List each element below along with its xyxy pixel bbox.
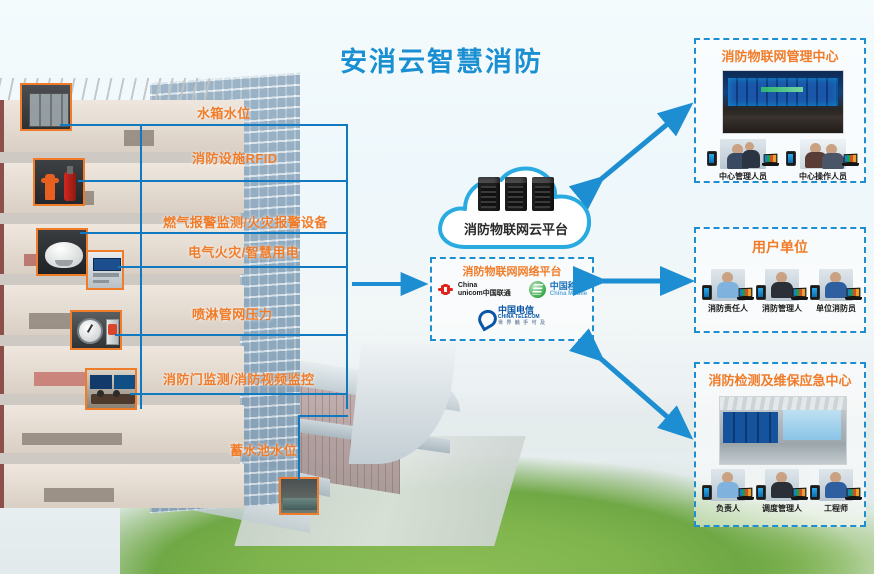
- person-engineer: 工程师: [809, 469, 863, 514]
- laptop-icon: [737, 488, 754, 500]
- video-wall: [723, 412, 778, 443]
- control-room-scene: [723, 71, 843, 133]
- bracket-line-6: [140, 393, 348, 395]
- diagram-canvas: 水箱水位 消防设施RFID 燃气报警监测/火灾报警设备 电气火灾/智慧用电 喷淋…: [0, 0, 874, 574]
- leader-line-pool-horizontal: [298, 415, 348, 417]
- person-unit-firefighter: 单位消防员: [809, 269, 863, 314]
- label-pool-water-level: 蓄水池水位: [230, 440, 297, 459]
- bracket-line-2: [140, 180, 348, 182]
- label-sprinkler-pressure: 喷淋管网压力: [192, 304, 272, 323]
- phone-icon: [756, 285, 766, 300]
- phone-icon: [786, 151, 796, 166]
- label-gas-fire-alarm: 燃气报警监测/火灾报警设备: [163, 212, 328, 231]
- server-rack-1: [478, 177, 500, 211]
- cloud-platform-label: 消防物联网云平台: [432, 219, 600, 238]
- leader-line-water-tank: [60, 124, 145, 126]
- person-label: 负责人: [701, 503, 755, 514]
- person-center-operator: 中心操作人员: [784, 139, 862, 182]
- person-label: 消防管理人: [755, 303, 809, 314]
- smoke-detector-device[interactable]: [36, 228, 88, 276]
- laptop-icon: [737, 288, 754, 300]
- panel-inspection-center-title: 消防检测及维保应急中心: [696, 370, 864, 389]
- control-room-photo-1: [722, 70, 844, 134]
- page-title: 安消云智慧消防: [340, 40, 543, 79]
- person-label: 消防责任人: [701, 303, 755, 314]
- phone-icon: [756, 485, 766, 500]
- leader-line-video: [130, 393, 144, 395]
- leader-line-pool-vertical: [298, 415, 300, 480]
- bracket-line-3: [140, 232, 348, 234]
- person-responsible: 负责人: [701, 469, 755, 514]
- ceiling: [720, 397, 846, 410]
- person-dispatch-manager: 调度管理人: [755, 469, 809, 514]
- panel-user-unit[interactable]: 用户单位 消防责任人 消防管理人: [694, 227, 866, 333]
- video-monitor-device[interactable]: [85, 368, 137, 410]
- unicom-text: China unicom中国联通: [458, 282, 511, 297]
- phone-icon: [810, 485, 820, 500]
- cloud-platform: 消防物联网云平台: [432, 163, 600, 255]
- person-label: 中心管理人员: [704, 171, 782, 182]
- label-fire-facility-rfid: 消防设施RFID: [192, 148, 278, 167]
- panel-user-unit-title: 用户单位: [696, 237, 864, 257]
- laptop-icon: [845, 288, 862, 300]
- person-fire-manager: 消防管理人: [755, 269, 809, 314]
- network-platform-title: 消防物联网网络平台: [432, 263, 592, 279]
- leader-line-hydrant: [78, 180, 143, 182]
- person-label: 单位消防员: [809, 303, 863, 314]
- network-platform-box[interactable]: 消防物联网网络平台 China unicom中国联通: [430, 257, 594, 341]
- telecom-icon: [478, 308, 494, 324]
- china-telecom-logo: 中国电信 CHINA TELECOM 世 界 触 手 可 及: [478, 306, 546, 326]
- telecom-text: 中国电信 CHINA TELECOM 世 界 触 手 可 及: [498, 306, 546, 326]
- mobile-globe-icon: [529, 281, 546, 298]
- window-view: [783, 410, 841, 439]
- laptop-icon: [791, 288, 808, 300]
- label-water-tank-level: 水箱水位: [197, 103, 251, 122]
- person-label: 工程师: [809, 503, 863, 514]
- bracket-line-4: [140, 266, 348, 268]
- control-room-scene: [720, 397, 846, 464]
- china-unicom-logo: China unicom中国联通: [437, 282, 511, 297]
- bracket-line-1: [140, 124, 348, 126]
- person-label: 调度管理人: [755, 503, 809, 514]
- phone-icon: [702, 285, 712, 300]
- panel-management-center[interactable]: 消防物联网管理中心 中心管理人员: [694, 38, 866, 183]
- phone-icon: [810, 285, 820, 300]
- label-electrical-fire: 电气火灾/智慧用电: [188, 242, 299, 261]
- hydrant-extinguisher-device[interactable]: [33, 158, 85, 206]
- server-rack-2: [505, 177, 527, 211]
- console-desk: [723, 116, 843, 133]
- floor: [720, 443, 846, 464]
- person-center-manager: 中心管理人员: [704, 139, 782, 182]
- control-room-photo-2: [719, 396, 847, 465]
- leader-line-smoke: [80, 232, 142, 234]
- laptop-icon: [845, 488, 862, 500]
- leader-line-gauge: [115, 334, 143, 336]
- person-label: 中心操作人员: [784, 171, 862, 182]
- person-photo: [800, 139, 846, 169]
- leader-line-panel: [118, 266, 144, 268]
- building-tower: [0, 78, 250, 498]
- pressure-gauge-device[interactable]: [70, 310, 122, 350]
- phone-icon: [707, 151, 717, 166]
- carrier-logo-row-2: 中国电信 CHINA TELECOM 世 界 触 手 可 及: [432, 306, 592, 326]
- video-wall: [728, 78, 838, 106]
- person-fire-responsible: 消防责任人: [701, 269, 755, 314]
- china-mobile-logo: 中国移动 China Mobile: [529, 281, 587, 298]
- panel-management-center-title: 消防物联网管理中心: [696, 46, 864, 65]
- laptop-icon: [842, 154, 859, 166]
- carrier-logo-row-1: China unicom中国联通 中国移动 China Mobile: [432, 281, 592, 298]
- server-rack-3: [532, 177, 554, 211]
- water-pool-device[interactable]: [279, 477, 319, 515]
- laptop-icon: [762, 154, 779, 166]
- unicom-knot-icon: [437, 283, 454, 297]
- electrical-panel-device[interactable]: [86, 250, 124, 290]
- server-rack-group: [478, 177, 556, 211]
- mobile-text: 中国移动 China Mobile: [550, 282, 587, 298]
- person-photo: [720, 139, 766, 169]
- phone-icon: [702, 485, 712, 500]
- laptop-icon: [791, 488, 808, 500]
- bracket-line-5: [140, 334, 348, 336]
- label-fire-door-video: 消防门监测/消防视频监控: [163, 369, 314, 388]
- panel-inspection-center[interactable]: 消防检测及维保应急中心 负责人: [694, 362, 866, 527]
